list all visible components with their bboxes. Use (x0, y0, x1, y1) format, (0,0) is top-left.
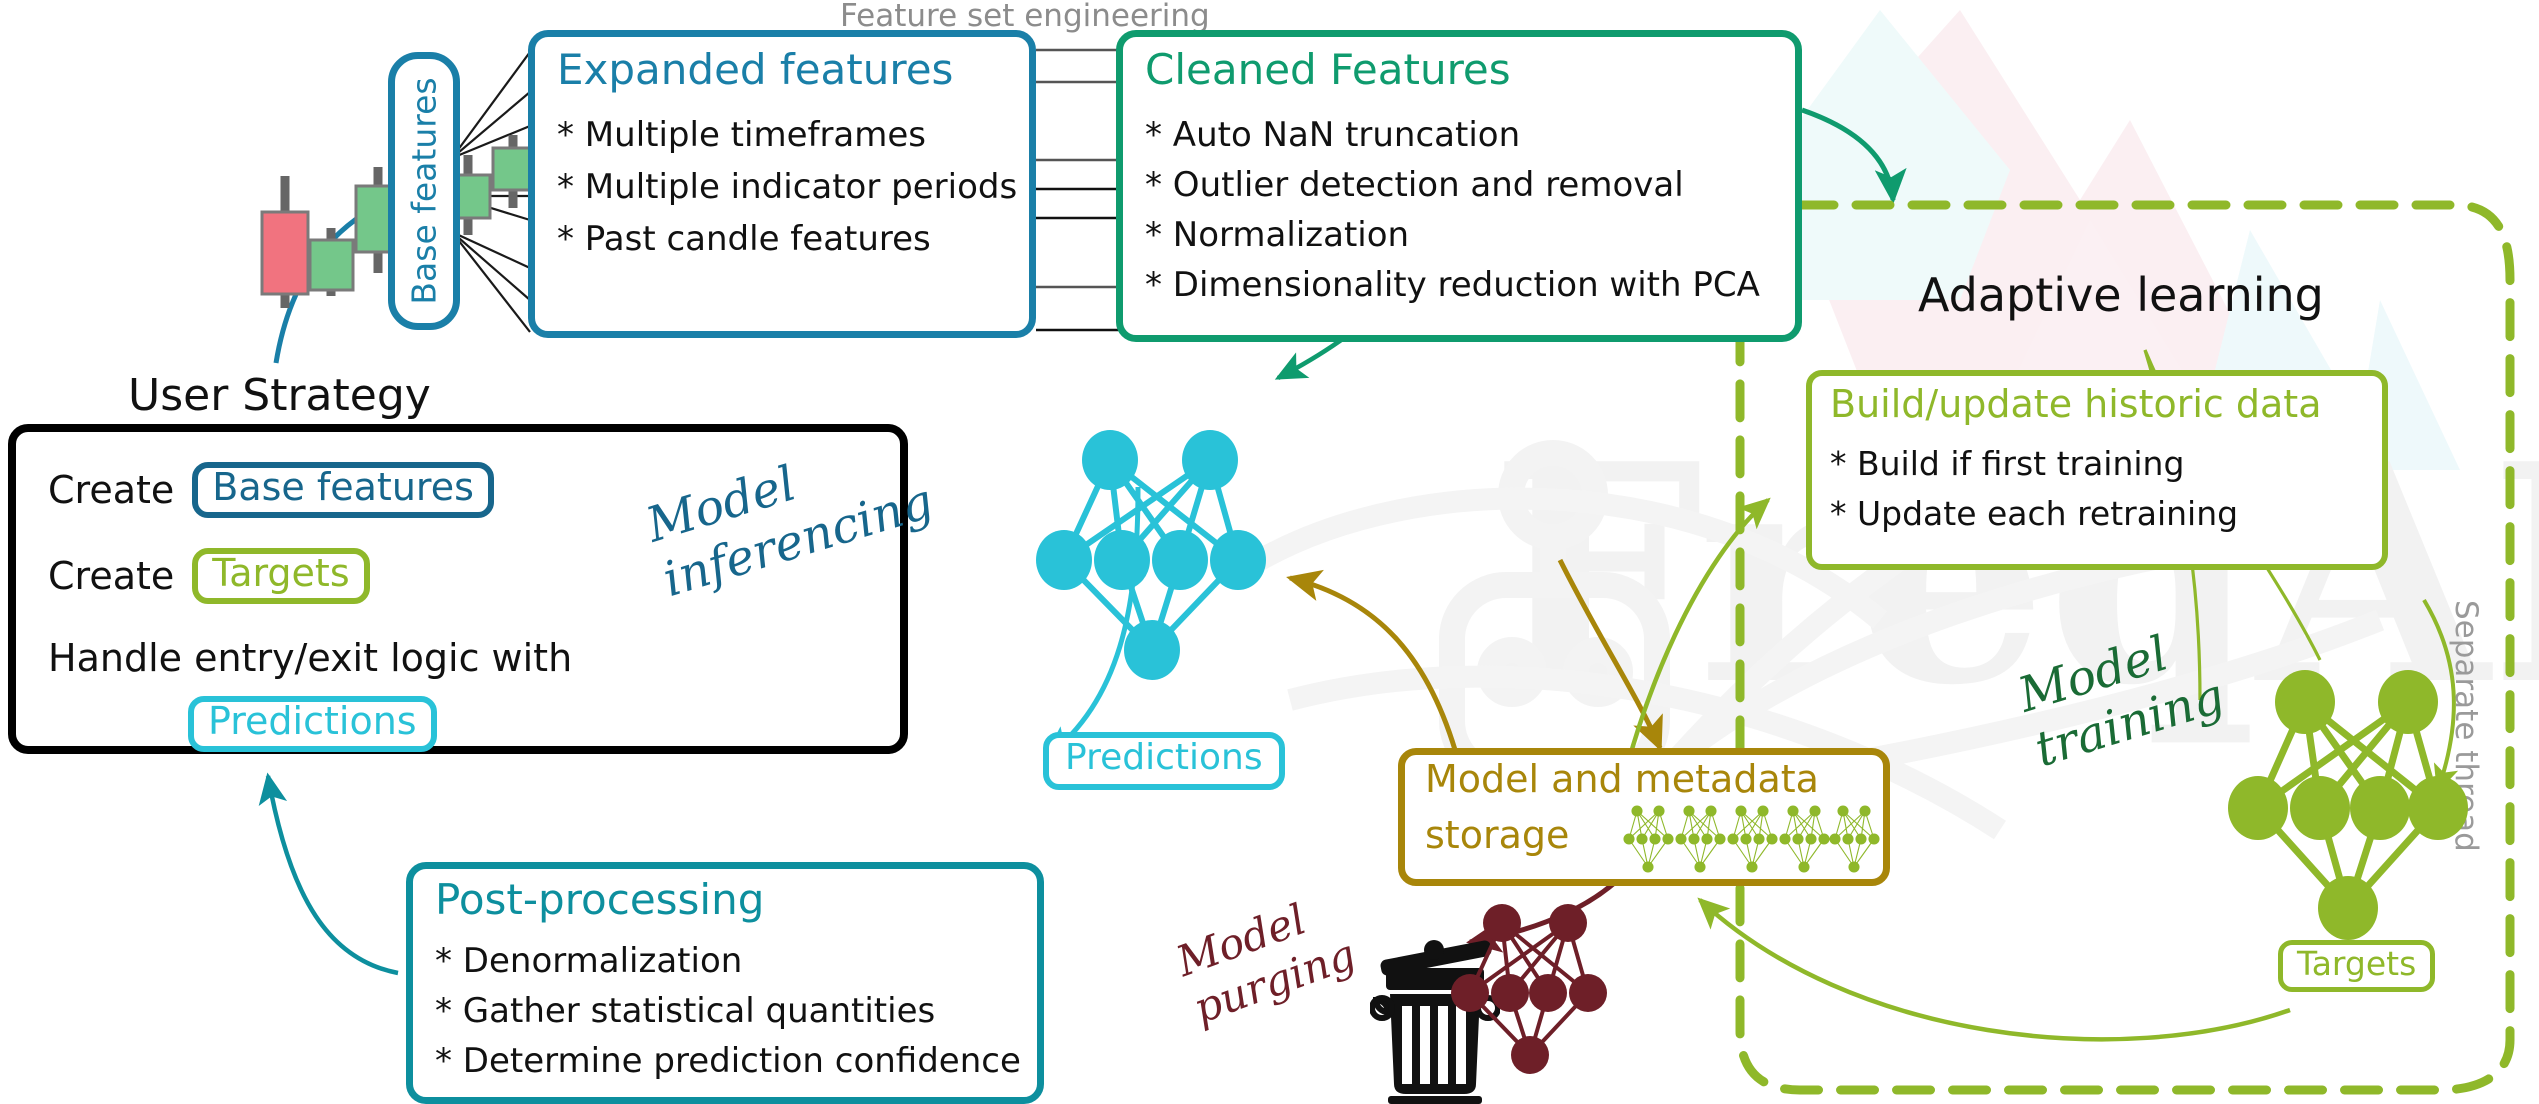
cleaned-features-item-2: * Normalization (1145, 215, 1409, 255)
adaptive-learning-title: Adaptive learning (1918, 268, 2324, 322)
create-label-1: Create (48, 468, 174, 512)
targets-pill-strategy[interactable]: Targets (192, 548, 369, 604)
model-storage-box: Model and metadata storage (1398, 748, 1890, 886)
cleaned-features-box: Cleaned Features * Auto NaN truncation *… (1116, 30, 1802, 342)
user-strategy-line-2: Create Targets (48, 548, 370, 604)
user-strategy-title: User Strategy (128, 370, 431, 421)
neural-network-icon-training (2210, 660, 2480, 940)
targets-pill[interactable]: Targets (2278, 940, 2435, 992)
expanded-features-title: Expanded features (557, 45, 953, 94)
build-update-title: Build/update historic data (1830, 382, 2322, 426)
user-strategy-line-1: Create Base features (48, 462, 494, 518)
user-strategy-line-3: Handle entry/exit logic with (48, 636, 572, 680)
cleaned-features-item-1: * Outlier detection and removal (1145, 165, 1684, 205)
feature-set-engineering-title: Feature set engineering (840, 0, 1210, 34)
expanded-features-item-0: * Multiple timeframes (557, 115, 926, 155)
post-processing-item-2: * Determine prediction confidence (435, 1041, 1021, 1081)
create-label-2: Create (48, 554, 174, 598)
expanded-features-item-2: * Past candle features (557, 219, 931, 259)
base-features-vertical-box: Base features (388, 52, 460, 330)
predictions-pill[interactable]: Predictions (1043, 732, 1285, 790)
diagram-canvas: FreqAI (0, 0, 2539, 1104)
build-update-item-1: * Update each retraining (1830, 494, 2238, 533)
cleaned-features-title: Cleaned Features (1145, 45, 1511, 94)
post-processing-box: Post-processing * Denormalization * Gath… (406, 862, 1044, 1104)
build-update-box: Build/update historic data * Build if fi… (1806, 370, 2388, 570)
model-storage-line-2: storage (1425, 813, 1569, 857)
neural-network-icon-purged (1440, 895, 1620, 1075)
base-features-pill[interactable]: Base features (192, 462, 494, 518)
expanded-features-item-1: * Multiple indicator periods (557, 167, 1017, 207)
cleaned-features-item-0: * Auto NaN truncation (1145, 115, 1520, 155)
predictions-pill-strategy[interactable]: Predictions (188, 696, 437, 752)
expanded-features-box: Expanded features * Multiple timeframes … (528, 30, 1036, 338)
post-processing-item-1: * Gather statistical quantities (435, 991, 935, 1031)
neural-network-icon-inference (1020, 420, 1280, 680)
post-processing-item-0: * Denormalization (435, 941, 742, 981)
post-processing-title: Post-processing (435, 875, 764, 924)
build-update-item-0: * Build if first training (1830, 444, 2184, 483)
base-features-label: Base features (405, 77, 444, 304)
neural-network-stack-icon (1623, 799, 1883, 879)
model-storage-line-1: Model and metadata (1425, 757, 1819, 801)
cleaned-features-item-3: * Dimensionality reduction with PCA (1145, 265, 1760, 305)
